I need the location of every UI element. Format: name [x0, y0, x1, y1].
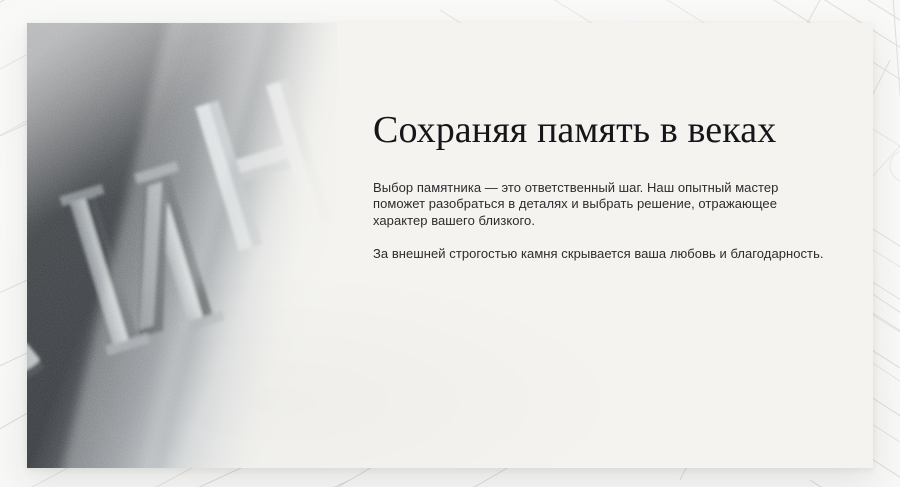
body-paragraph-1: Выбор памятника — это ответственный шаг.…: [373, 180, 833, 230]
slide-card: Сохраняя память в веках Выбор памятника …: [27, 23, 873, 468]
page-title: Сохраняя память в веках: [373, 109, 833, 152]
body-copy: Выбор памятника — это ответственный шаг.…: [373, 180, 833, 263]
body-paragraph-2: За внешней строгостью камня скрывается в…: [373, 246, 833, 263]
engraved-granite-photo: [27, 23, 337, 468]
slide-content: Сохраняя память в веках Выбор памятника …: [337, 23, 873, 468]
slide-page: Сохраняя память в веках Выбор памятника …: [0, 0, 900, 487]
